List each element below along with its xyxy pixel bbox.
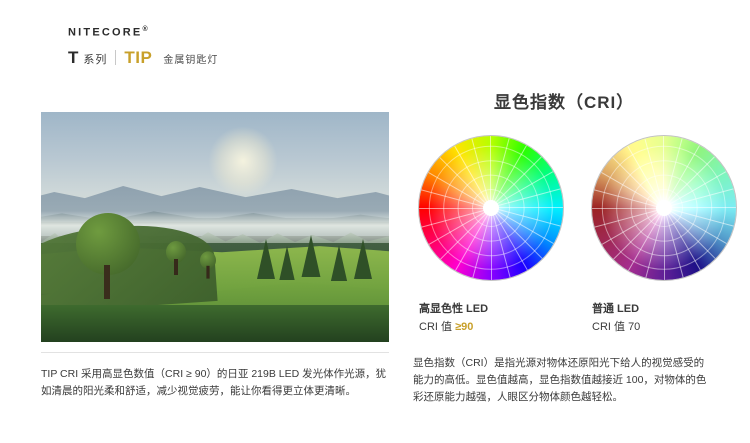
high-cri-wheel xyxy=(419,136,563,280)
normal-cri-value-number: 70 xyxy=(628,321,640,333)
high-cri-label-text: 高显色性 LED xyxy=(419,303,488,315)
series-word: 系列 xyxy=(83,51,107,67)
photo-conifer xyxy=(354,239,372,279)
photo-sun xyxy=(208,126,278,196)
normal-cri-wheel-graphic xyxy=(592,136,736,280)
page-root: NITECORE® T 系列 TIP 金属钥匙灯 显色指数（CRI） xyxy=(0,0,750,443)
high-cri-value-prefix: CRI 值 xyxy=(419,321,452,333)
high-cri-wheel-graphic xyxy=(419,136,563,280)
landscape-photo xyxy=(41,112,389,342)
normal-cri-wheel xyxy=(592,136,736,280)
series-title: T 系列 TIP 金属钥匙灯 xyxy=(68,48,218,68)
series-subtitle: 金属钥匙灯 xyxy=(163,51,218,66)
photo-tree-small xyxy=(200,251,216,278)
photo-conifer xyxy=(331,245,347,281)
normal-cri-label-title: 普通 LED xyxy=(592,300,639,316)
wheel-rim xyxy=(418,135,564,281)
photo-conifer xyxy=(257,239,275,279)
wheel-rim xyxy=(591,135,737,281)
left-copy-divider xyxy=(41,352,389,353)
right-description: 显色指数（CRI）是指光源对物体还原阳光下给人的视觉感受的能力的高低。显色值越高… xyxy=(413,355,713,405)
photo-tree-small xyxy=(166,241,186,275)
photo-foreground-grass xyxy=(41,305,389,342)
high-cri-value-number: 90 xyxy=(461,321,473,333)
photo-conifer xyxy=(279,246,294,280)
cri-section-title: 显色指数（CRI） xyxy=(494,88,634,113)
normal-cri-label-text: 普通 LED xyxy=(592,303,639,315)
photo-conifer xyxy=(302,235,321,277)
normal-cri-value-prefix: CRI 值 xyxy=(592,321,625,333)
title-divider xyxy=(115,50,116,65)
series-name: TIP xyxy=(124,48,152,68)
left-description: TIP CRI 采用高显色数值（CRI ≥ 90）的日亚 219B LED 发光… xyxy=(41,366,391,400)
brand-logo: NITECORE® xyxy=(68,26,148,39)
photo-tree-trunk xyxy=(104,265,110,299)
high-cri-label-title: 高显色性 LED xyxy=(419,300,488,316)
series-letter: T xyxy=(68,48,78,68)
normal-cri-label-value: CRI 值 70 xyxy=(592,318,640,334)
registered-mark: ® xyxy=(142,26,147,33)
photo-tree-large xyxy=(76,213,140,301)
brand-name: NITECORE xyxy=(68,27,142,39)
high-cri-label-value: CRI 值 ≥90 xyxy=(419,318,473,334)
